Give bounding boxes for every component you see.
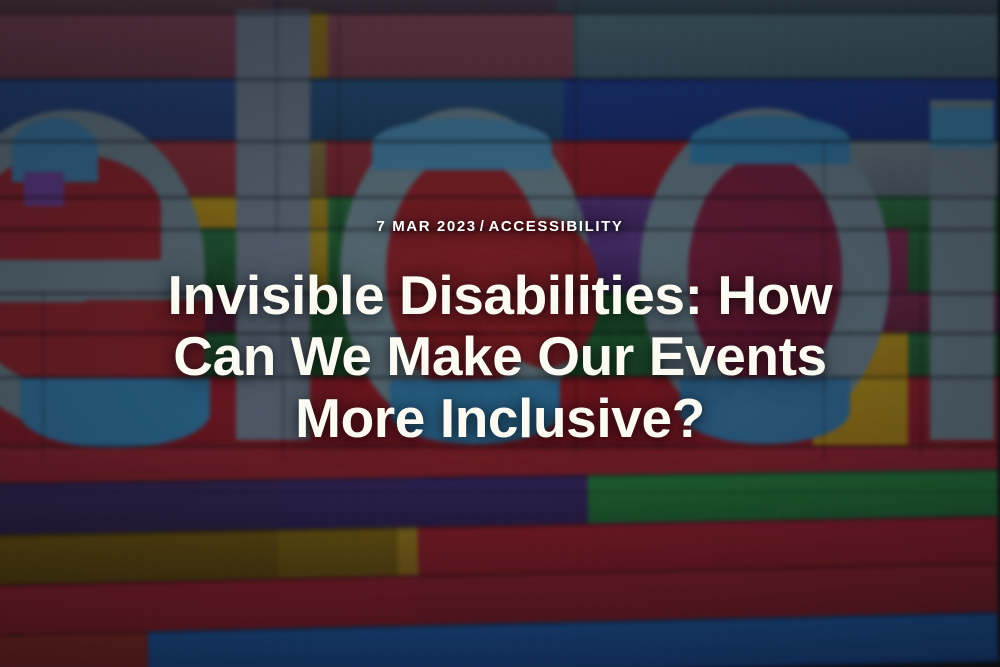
headline-line: More Inclusive? xyxy=(168,388,833,450)
blog-post-hero-card[interactable]: 7 MAR 2023/ACCESSIBILITY Invisible Disab… xyxy=(0,0,1000,667)
headline-line: Can We Make Our Events xyxy=(168,326,833,388)
post-date: 7 MAR 2023 xyxy=(377,218,477,235)
meta-separator: / xyxy=(480,218,486,235)
headline-line: Invisible Disabilities: How xyxy=(168,265,833,327)
hero-content: 7 MAR 2023/ACCESSIBILITY Invisible Disab… xyxy=(0,0,1000,667)
post-meta: 7 MAR 2023/ACCESSIBILITY xyxy=(377,218,624,235)
page-title[interactable]: Invisible Disabilities: How Can We Make … xyxy=(168,265,833,450)
post-category[interactable]: ACCESSIBILITY xyxy=(489,218,624,235)
